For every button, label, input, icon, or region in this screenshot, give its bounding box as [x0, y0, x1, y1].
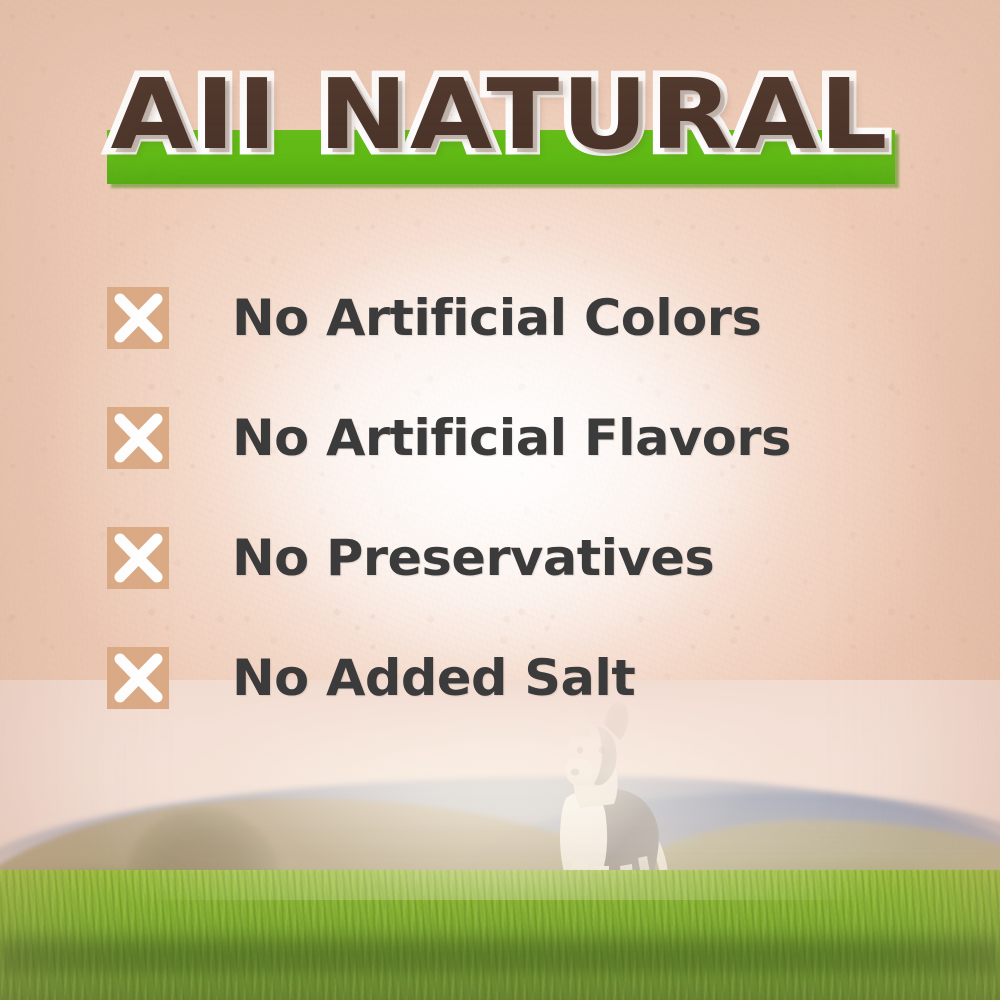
list-item: No Added Salt: [107, 618, 907, 738]
claim-label: No Artificial Flavors: [232, 409, 791, 467]
list-item: No Artificial Colors: [107, 258, 907, 378]
claims-list: No Artificial Colors No Artificial Flavo…: [107, 258, 907, 738]
claim-label: No Added Salt: [232, 649, 635, 707]
x-mark-icon: [107, 287, 169, 349]
all-natural-product-callout: AII NATURAL No Artificial Colors No Arti…: [0, 0, 1000, 1000]
list-item: No Artificial Flavors: [107, 378, 907, 498]
list-item: No Preservatives: [107, 498, 907, 618]
x-mark-icon: [107, 527, 169, 589]
x-mark-icon: [107, 647, 169, 709]
claim-label: No Artificial Colors: [232, 289, 761, 347]
x-mark-icon: [107, 407, 169, 469]
claim-label: No Preservatives: [232, 529, 714, 587]
page-title: AII NATURAL: [0, 66, 1000, 163]
grass-shadow-band: [0, 928, 1000, 974]
